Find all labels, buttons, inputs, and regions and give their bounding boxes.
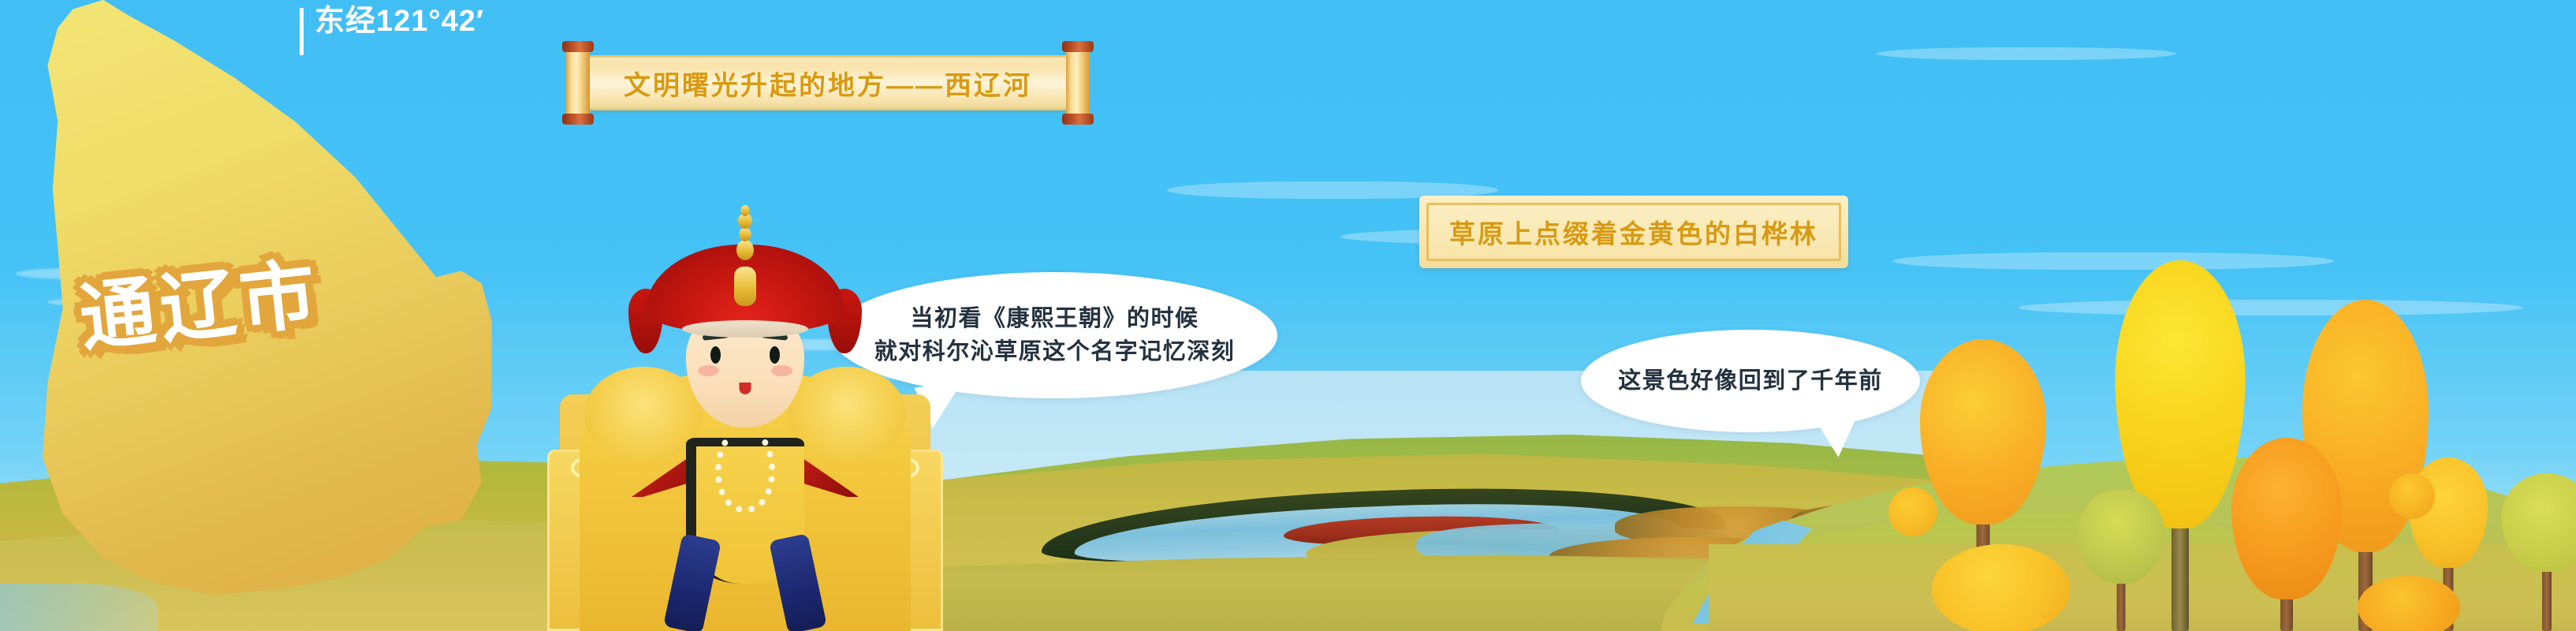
small-bush bbox=[2358, 576, 2460, 631]
speech-bubble-scenery[interactable]: 这景色好像回到了千年前 bbox=[1581, 330, 1920, 432]
emperor-cheek-right bbox=[771, 365, 792, 376]
speech-bubble-line: 就对科尔沁草原这个名字记忆深刻 bbox=[874, 335, 1236, 368]
speech-bubble-line: 当初看《康熙王朝》的时候 bbox=[910, 302, 1199, 335]
emperor-hat-jewel-icon bbox=[734, 267, 756, 306]
emperor-eye-left bbox=[710, 346, 721, 364]
autumn-tree bbox=[2224, 438, 2350, 631]
coordinate-label: 东经121°42′ bbox=[315, 6, 484, 38]
tree-crown bbox=[2502, 473, 2576, 572]
coordinate-caption: 东经121°42′ bbox=[300, 6, 484, 55]
speech-bubble-line: 这景色好像回到了千年前 bbox=[1618, 364, 1883, 398]
scroll-rod-right-icon bbox=[1066, 44, 1090, 121]
scroll-banner-text: 文明曙光升起的地方——西辽河 bbox=[624, 64, 1032, 103]
emperor-pearl-necklace bbox=[715, 426, 775, 513]
emperor-cheek-left bbox=[698, 365, 719, 376]
forest-caption-plaque[interactable]: 草原上点缀着金黄色的白桦林 bbox=[1419, 196, 1848, 268]
cloud-band bbox=[1877, 47, 2176, 60]
plaque-text: 草原上点缀着金黄色的白桦林 bbox=[1449, 213, 1818, 251]
emperor-hat-finial-icon bbox=[736, 203, 754, 260]
scroll-banner[interactable]: 文明曙光升起的地方——西辽河 bbox=[560, 49, 1096, 117]
shrub-tree bbox=[2492, 473, 2576, 631]
small-bush bbox=[2389, 473, 2435, 519]
tongliao-map[interactable]: 通辽市 bbox=[0, 0, 497, 607]
tongliao-promo-banner: 通辽市 东经121°42′ 文明曙光升起的地方——西辽河 草原上点缀着金黄色的白… bbox=[0, 0, 2576, 631]
tree-crown bbox=[2078, 489, 2164, 584]
shrub-tree bbox=[2070, 489, 2172, 631]
plaque-inner-frame: 草原上点缀着金黄色的白桦林 bbox=[1426, 203, 1841, 261]
qing-emperor-mascot[interactable] bbox=[580, 158, 911, 631]
small-bush bbox=[1888, 487, 1937, 536]
emperor-mouth bbox=[740, 383, 751, 394]
scroll-rod-left-icon bbox=[566, 44, 590, 121]
tree-crown bbox=[1920, 339, 2046, 525]
emperor-shoulder-right bbox=[788, 367, 906, 461]
speech-bubble-tail-icon bbox=[1807, 415, 1855, 458]
emperor-eye-right bbox=[770, 346, 780, 364]
tree-crown bbox=[2231, 438, 2342, 599]
emperor-shoulder-left bbox=[584, 367, 703, 461]
emperor-hat-brim bbox=[682, 320, 808, 338]
small-bush bbox=[1932, 544, 2070, 631]
vertical-rule-marker-icon bbox=[300, 8, 304, 55]
scroll-paper: 文明曙光升起的地方——西辽河 bbox=[590, 55, 1066, 110]
